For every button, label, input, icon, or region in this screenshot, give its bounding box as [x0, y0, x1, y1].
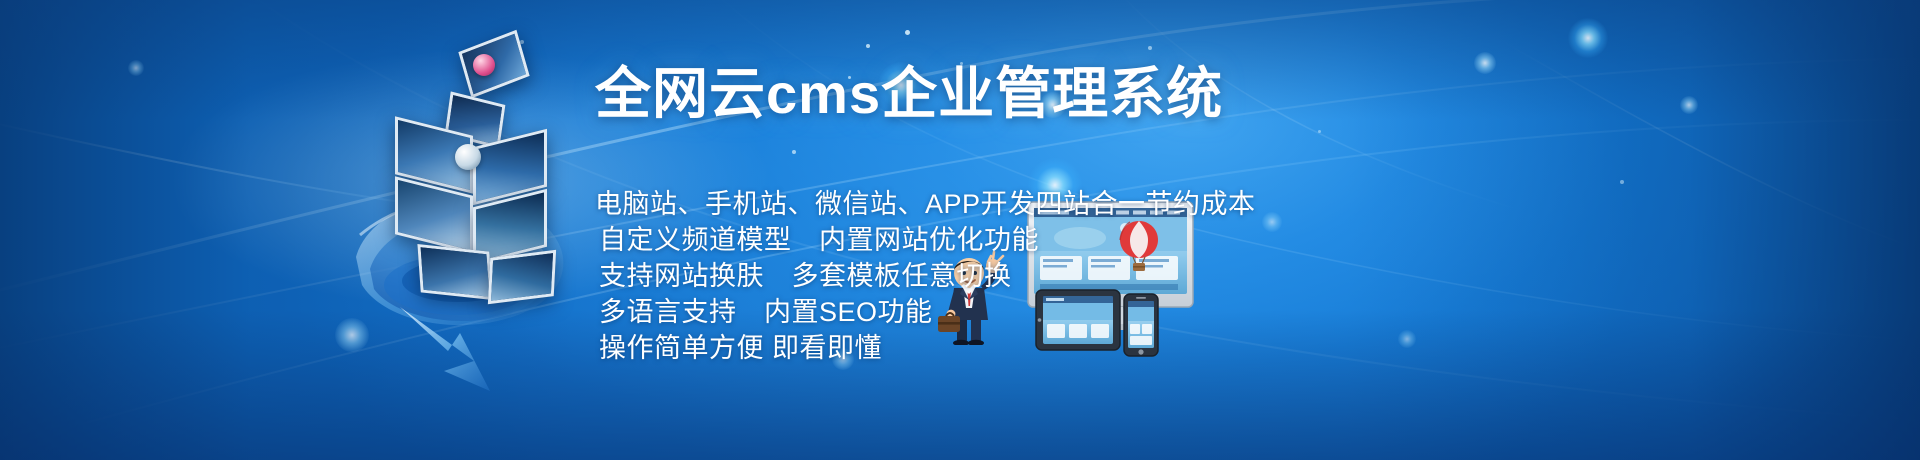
feature-line: 操作简单方便 即看即懂 [595, 330, 1256, 366]
feature-line: 电脑站、手机站、微信站、APP开发四站合一节约成本 [595, 186, 1256, 222]
banner-title: 全网云cms企业管理系统 [595, 62, 1223, 126]
promo-banner: 全网云cms企业管理系统 电脑站、手机站、微信站、APP开发四站合一节约成本 自… [0, 0, 1920, 460]
feature-line: 支持网站换肤 多套模板任意切换 [595, 258, 1256, 294]
feature-line: 自定义频道模型 内置网站优化功能 [595, 222, 1256, 258]
feature-list: 电脑站、手机站、微信站、APP开发四站合一节约成本 自定义频道模型 内置网站优化… [595, 186, 1256, 366]
feature-line: 多语言支持 内置SEO功能 [595, 294, 1256, 330]
banner-text-block: 全网云cms企业管理系统 电脑站、手机站、微信站、APP开发四站合一节约成本 自… [0, 0, 1920, 460]
